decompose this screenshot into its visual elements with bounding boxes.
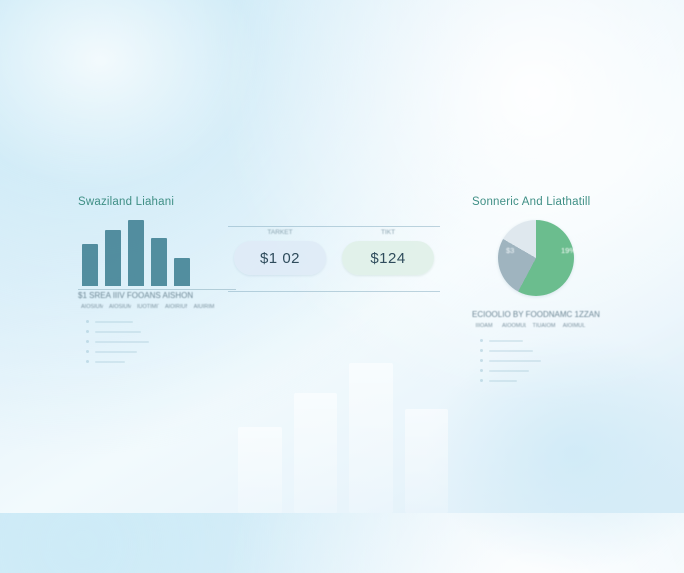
tick-bar xyxy=(95,321,133,323)
tick-bar xyxy=(489,340,523,342)
pie-chart-title: Sonneric And Liathatill xyxy=(472,196,642,208)
kpi-label: TARKET xyxy=(267,229,292,236)
bar-chart-caption: $1 SREA IIIV FOOANS AISHON xyxy=(78,291,248,300)
kpi-label: TIKT xyxy=(381,229,395,236)
kpi-card-actual[interactable]: TIKT $124 xyxy=(342,241,434,275)
bar-chart-bar xyxy=(151,238,167,286)
kpi-panel: TARKET $1 02 TIKT $124 xyxy=(228,226,440,292)
pie-chart-tick-label: AIOOMUL xyxy=(502,323,526,329)
tick-bar xyxy=(95,331,141,333)
pie-chart-tick-label: AIOIMUL xyxy=(562,323,586,329)
bar-chart-tick-stack xyxy=(78,320,248,363)
tick-bar xyxy=(489,380,517,382)
bar-chart-bar xyxy=(128,220,144,286)
kpi-card-target[interactable]: TARKET $1 02 xyxy=(234,241,326,275)
pie-chart-tick-label: TIUAIOM xyxy=(532,323,556,329)
tick-row xyxy=(86,330,248,333)
pie-chart: 19% $3 xyxy=(498,220,582,304)
tick-row xyxy=(86,320,248,323)
tick-dot-icon xyxy=(86,330,89,333)
tick-row xyxy=(86,340,248,343)
bar-chart-axis xyxy=(78,289,236,290)
pie-chart-panel: Sonneric And Liathatill 19% $3 ECIOOLIO … xyxy=(472,196,642,389)
tick-dot-icon xyxy=(480,369,483,372)
tick-row xyxy=(480,349,642,352)
tick-dot-icon xyxy=(86,350,89,353)
pie-chart-caption: ECIOOLIO BY FOODNAMC 1ZZAN xyxy=(472,310,642,319)
pie-slice-label-primary: 19% xyxy=(561,246,576,255)
tick-dot-icon xyxy=(86,320,89,323)
tick-row xyxy=(480,379,642,382)
kpi-value: $124 xyxy=(370,250,405,267)
kpi-pill-row: TARKET $1 02 TIKT $124 xyxy=(228,227,440,291)
pie-chart-tick-labels: IIIOAM AIOOMUL TIUAIOM AIOIMUL xyxy=(472,323,642,329)
tick-bar xyxy=(489,350,533,352)
tick-row xyxy=(86,360,248,363)
tick-dot-icon xyxy=(480,379,483,382)
tick-bar xyxy=(95,361,125,363)
bar-chart-axis-labels: AIOSIUM AIOSIUM IUOTIMIT AIOIRIUM AIUIRI… xyxy=(78,304,248,310)
bar-chart-bar xyxy=(105,230,121,286)
pie-chart-tick-label: IIIOAM xyxy=(472,323,496,329)
bar-chart-panel: Swaziland Liahani $1 SREA IIIV FOOANS AI… xyxy=(78,196,248,370)
bar-chart-axis-label: AIOSIUM xyxy=(81,304,103,310)
bar-chart-axis-label: AIOSIUM xyxy=(109,304,131,310)
tick-row xyxy=(480,369,642,372)
tick-bar xyxy=(489,370,529,372)
bar-chart-axis-label: AIOIRIUM xyxy=(165,304,187,310)
pie-slice-label-secondary: $3 xyxy=(506,246,514,255)
tick-dot-icon xyxy=(86,340,89,343)
tick-bar xyxy=(95,351,137,353)
bar-chart-bars xyxy=(78,220,248,286)
bar-chart-axis-label: IUOTIMIT xyxy=(137,304,159,310)
bar-chart-axis-label: AIUIRIM xyxy=(193,304,215,310)
tick-dot-icon xyxy=(480,349,483,352)
bar-chart-title: Swaziland Liahani xyxy=(78,196,248,208)
bar-chart-bar xyxy=(174,258,190,286)
tick-row xyxy=(480,339,642,342)
tick-bar xyxy=(489,360,541,362)
tick-dot-icon xyxy=(480,359,483,362)
bar-chart-bar xyxy=(82,244,98,286)
tick-row xyxy=(86,350,248,353)
pie-chart-slices xyxy=(498,220,574,296)
tick-bar xyxy=(95,341,149,343)
tick-row xyxy=(480,359,642,362)
kpi-divider-bottom xyxy=(228,291,440,292)
dashboard-stage: Swaziland Liahani $1 SREA IIIV FOOANS AI… xyxy=(0,0,684,513)
kpi-value: $1 02 xyxy=(260,250,300,267)
tick-dot-icon xyxy=(86,360,89,363)
pie-chart-tick-stack xyxy=(472,339,642,382)
tick-dot-icon xyxy=(480,339,483,342)
